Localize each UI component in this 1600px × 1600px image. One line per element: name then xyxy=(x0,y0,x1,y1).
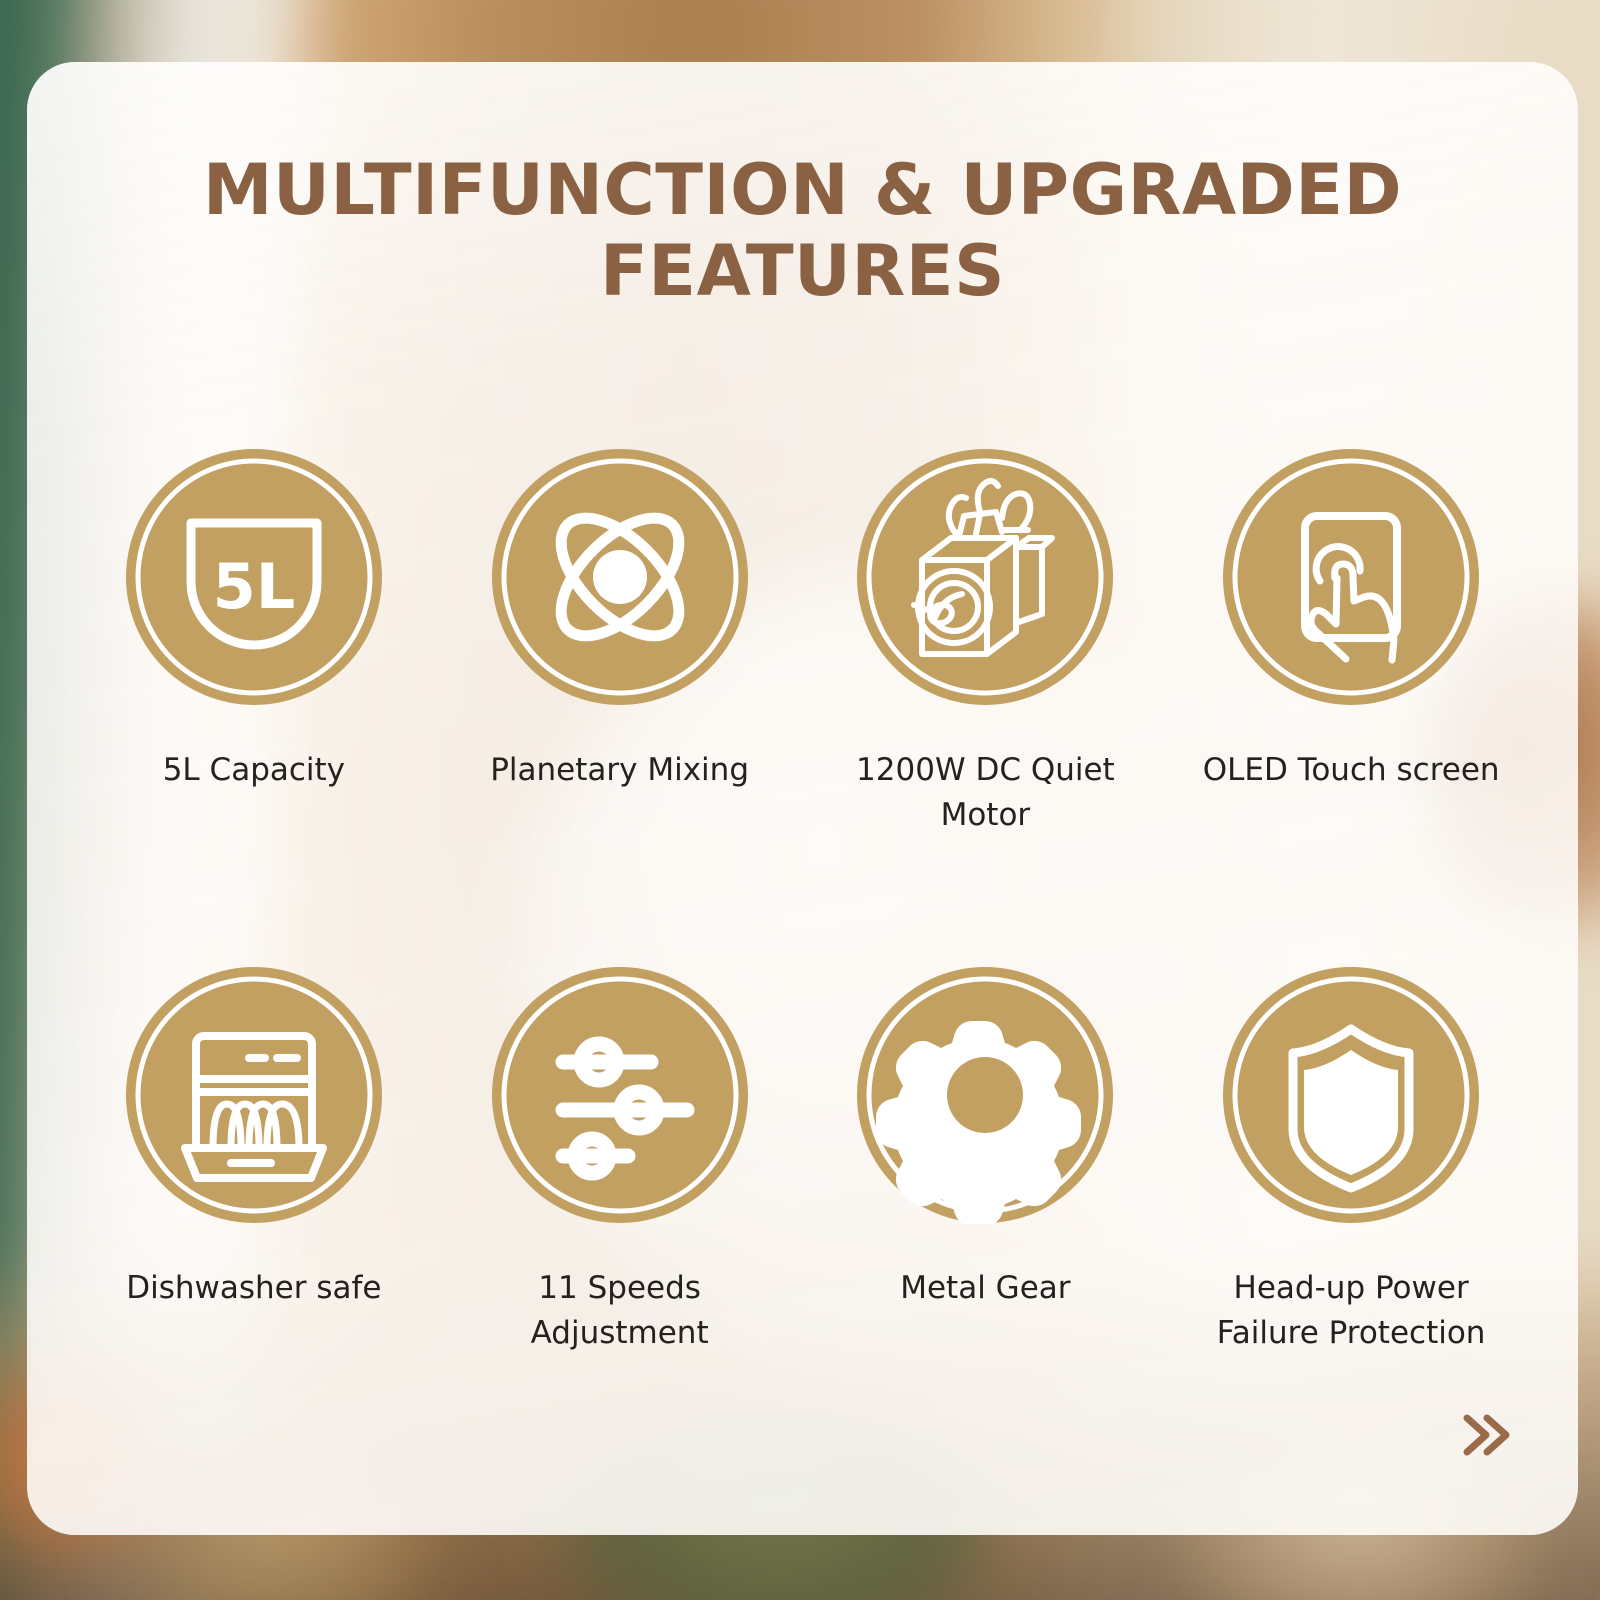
feature-label: Dishwasher safe xyxy=(104,1266,404,1311)
shield-icon xyxy=(1222,966,1480,1224)
feature-item-planetary-mixing[interactable]: Planetary Mixing xyxy=(437,448,803,838)
feature-item-metal-gear[interactable]: Metal Gear xyxy=(803,966,1169,1356)
page-title-line-1: MULTIFUNCTION & UPGRADED xyxy=(117,150,1488,231)
dishwasher-icon xyxy=(125,966,383,1224)
feature-grid: 5L 5L Capacity xyxy=(71,448,1534,1356)
gear-icon xyxy=(856,966,1114,1224)
page-title-line-2: FEATURES xyxy=(117,231,1488,312)
feature-label: 5L Capacity xyxy=(104,748,404,793)
feature-item-speeds[interactable]: 11 Speeds Adjustment xyxy=(437,966,803,1356)
feature-item-dishwasher[interactable]: Dishwasher safe xyxy=(71,966,437,1356)
content-card: MULTIFUNCTION & UPGRADED FEATURES 5L 5L … xyxy=(27,62,1578,1535)
feature-label: 1200W DC Quiet Motor xyxy=(835,748,1135,838)
product-feature-slide: MULTIFUNCTION & UPGRADED FEATURES 5L 5L … xyxy=(0,0,1600,1600)
touch-screen-icon xyxy=(1222,448,1480,706)
feature-label: Head-up Power Failure Protection xyxy=(1201,1266,1501,1356)
dc-motor-icon xyxy=(856,448,1114,706)
bowl-capacity-icon: 5L xyxy=(125,448,383,706)
feature-label: Metal Gear xyxy=(835,1266,1135,1311)
feature-item-power-failure-protection[interactable]: Head-up Power Failure Protection xyxy=(1168,966,1534,1356)
double-chevron-right-icon[interactable] xyxy=(1444,1397,1520,1473)
capacity-badge-text: 5L xyxy=(213,550,296,623)
feature-label: 11 Speeds Adjustment xyxy=(470,1266,770,1356)
feature-item-capacity[interactable]: 5L 5L Capacity xyxy=(71,448,437,838)
sliders-icon xyxy=(491,966,749,1224)
feature-item-motor[interactable]: 1200W DC Quiet Motor xyxy=(803,448,1169,838)
planetary-atom-icon xyxy=(491,448,749,706)
feature-item-touch-screen[interactable]: OLED Touch screen xyxy=(1168,448,1534,838)
page-title: MULTIFUNCTION & UPGRADED FEATURES xyxy=(117,150,1488,312)
feature-label: OLED Touch screen xyxy=(1201,748,1501,793)
feature-label: Planetary Mixing xyxy=(470,748,770,793)
